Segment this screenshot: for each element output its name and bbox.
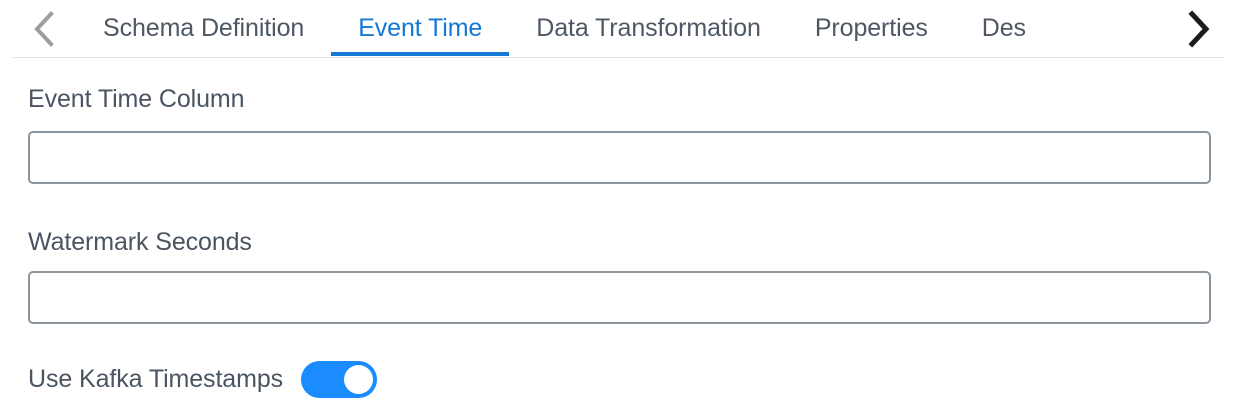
use-kafka-timestamps-toggle[interactable] <box>301 361 377 398</box>
watermark-seconds-input[interactable] <box>28 271 1211 324</box>
tab-properties[interactable]: Properties <box>788 0 955 57</box>
chevron-right-icon <box>1185 9 1211 49</box>
chevron-left-icon <box>31 9 57 49</box>
event-time-column-label: Event Time Column <box>28 85 244 114</box>
use-kafka-timestamps-label: Use Kafka Timestamps <box>28 367 283 392</box>
toggle-knob <box>344 365 373 394</box>
tab-data-transformation[interactable]: Data Transformation <box>509 0 788 57</box>
tab-event-time[interactable]: Event Time <box>331 0 509 57</box>
tab-label: Data Transformation <box>536 14 761 43</box>
tabs-scroll-right-button[interactable] <box>1174 0 1222 57</box>
tab-bar: Schema Definition Event Time Data Transf… <box>0 0 1236 58</box>
tab-description-truncated[interactable]: Des <box>955 0 1053 57</box>
watermark-seconds-label: Watermark Seconds <box>28 228 252 257</box>
use-kafka-timestamps-row: Use Kafka Timestamps <box>28 361 377 398</box>
tab-label: Schema Definition <box>103 14 304 43</box>
event-time-column-input[interactable] <box>28 131 1211 184</box>
tab-label: Event Time <box>358 14 482 43</box>
tab-list: Schema Definition Event Time Data Transf… <box>76 0 1053 57</box>
tab-label: Des <box>982 14 1026 43</box>
tab-label: Properties <box>815 14 928 43</box>
tabs-scroll-left-button[interactable] <box>20 0 68 57</box>
event-time-panel: Event Time Column Watermark Seconds Use … <box>0 58 1236 418</box>
tab-schema-definition[interactable]: Schema Definition <box>76 0 331 57</box>
